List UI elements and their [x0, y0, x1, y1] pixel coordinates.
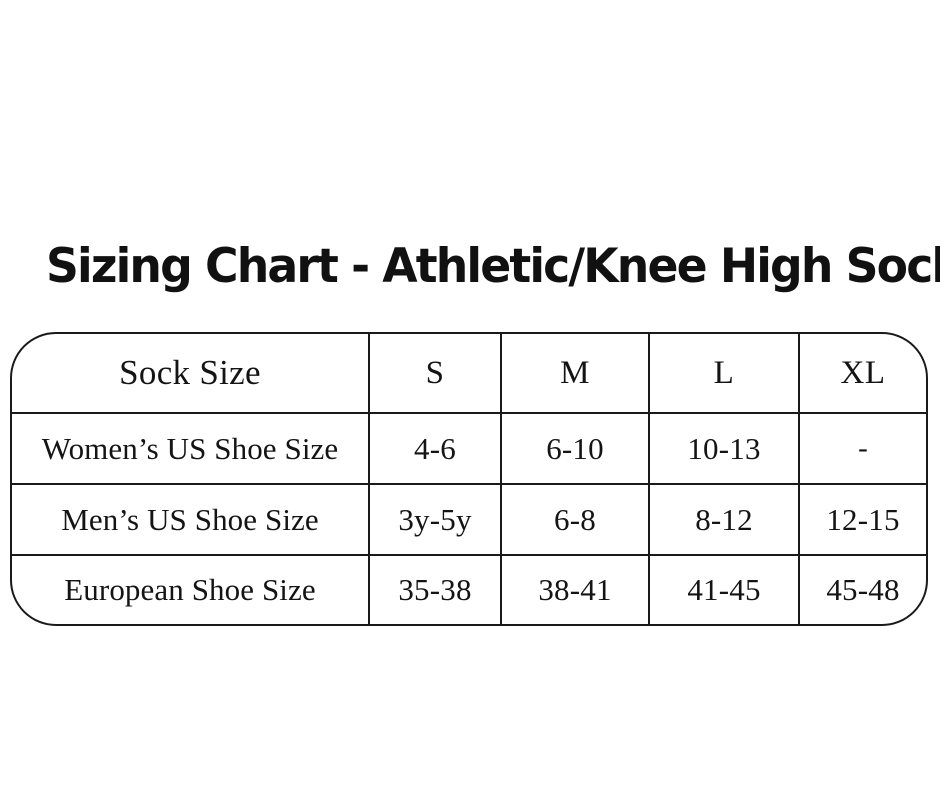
- row-label-womens-us-shoe-size: Women’s US Shoe Size: [12, 414, 370, 485]
- column-header-sock-size: Sock Size: [12, 334, 370, 414]
- row-label-european-shoe-size: European Shoe Size: [12, 556, 370, 624]
- table-row: Men’s US Shoe Size 3y-5y 6-8 8-12 12-15: [12, 485, 926, 556]
- cell-european-l: 41-45: [650, 556, 800, 624]
- column-header-m: M: [502, 334, 650, 414]
- table-row: European Shoe Size 35-38 38-41 41-45 45-…: [12, 556, 926, 624]
- column-header-l: L: [650, 334, 800, 414]
- table-header-row: Sock Size S M L XL: [12, 334, 926, 414]
- cell-european-m: 38-41: [502, 556, 650, 624]
- sizing-chart-page: Sizing Chart - Athletic/Knee High Socks …: [0, 0, 940, 788]
- sizing-table: Sock Size S M L XL Women’s US Shoe Size …: [10, 332, 928, 626]
- cell-mens-m: 6-8: [502, 485, 650, 556]
- cell-european-s: 35-38: [370, 556, 502, 624]
- cell-womens-s: 4-6: [370, 414, 502, 485]
- sizing-table-container: Sock Size S M L XL Women’s US Shoe Size …: [10, 332, 928, 618]
- cell-mens-s: 3y-5y: [370, 485, 502, 556]
- cell-european-xl: 45-48: [800, 556, 926, 624]
- cell-mens-xl: 12-15: [800, 485, 926, 556]
- cell-womens-l: 10-13: [650, 414, 800, 485]
- page-title: Sizing Chart - Athletic/Knee High Socks: [46, 239, 882, 295]
- column-header-xl: XL: [800, 334, 926, 414]
- column-header-s: S: [370, 334, 502, 414]
- cell-womens-xl: -: [800, 414, 926, 485]
- cell-mens-l: 8-12: [650, 485, 800, 556]
- row-label-mens-us-shoe-size: Men’s US Shoe Size: [12, 485, 370, 556]
- table-row: Women’s US Shoe Size 4-6 6-10 10-13 -: [12, 414, 926, 485]
- cell-womens-m: 6-10: [502, 414, 650, 485]
